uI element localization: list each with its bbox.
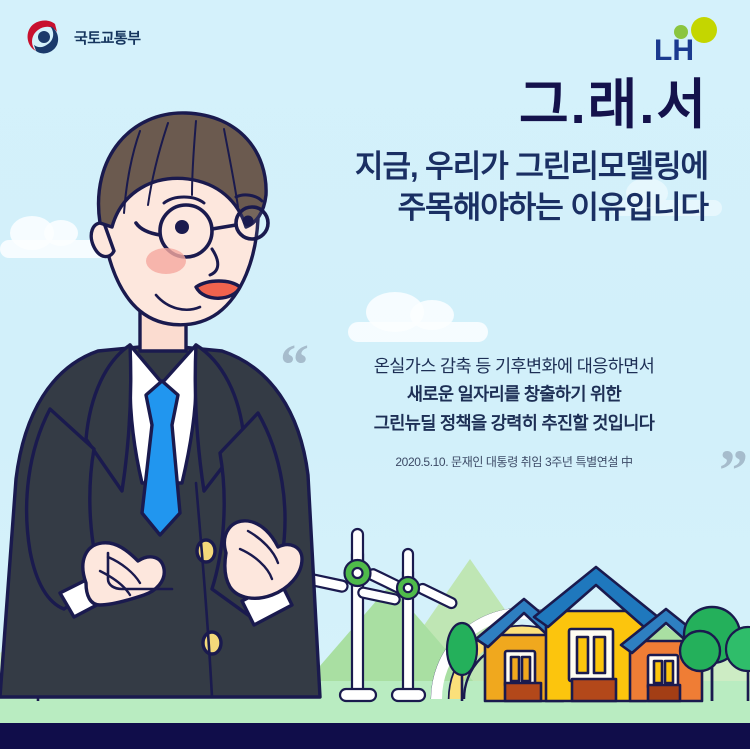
gov-logo-label: 국토교통부 [74,27,141,48]
taegeuk-icon [22,16,64,58]
necktie [142,381,180,535]
gov-logo: 국토교통부 [22,16,141,58]
eye-left [175,220,189,234]
lh-wordmark: LH [654,34,694,67]
president-moon-jae-in-illustration [0,83,410,723]
suit-button-top [197,540,215,562]
suit-button-bottom [203,632,221,654]
ground-strip [0,723,750,749]
cheek-blush [146,248,186,274]
lh-logo: LH [650,14,722,66]
lh-dot-large-icon [691,17,717,43]
mouth [196,281,240,298]
eye-right [243,216,254,227]
card-news-poster: 국토교통부 LH 그.래.서 지금, 우리가 그린리모델링에 주목해야하는 이유… [0,0,750,749]
